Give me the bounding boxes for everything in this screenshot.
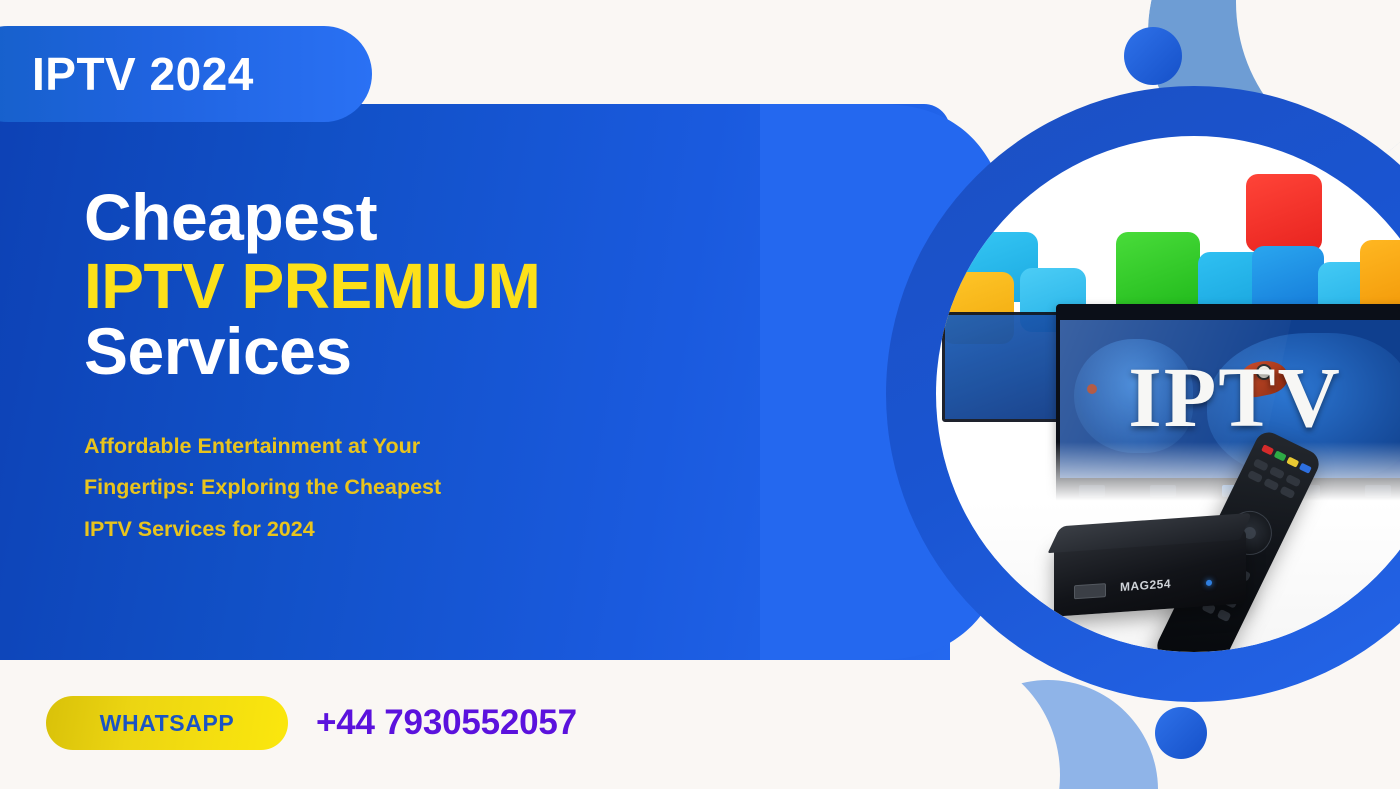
whatsapp-button[interactable]: WHATSAPP	[46, 696, 288, 750]
hero-copy: Cheapest IPTV PREMIUM Services Affordabl…	[84, 186, 704, 550]
contact-cta: WHATSAPP +44 7930552057	[46, 696, 577, 750]
set-top-box-led	[1206, 580, 1212, 586]
headline-line-3: Services	[84, 320, 704, 382]
headline-line-2: IPTV PREMIUM	[84, 256, 704, 316]
hero-subtitle: Affordable Entertainment at Your Fingert…	[84, 426, 644, 550]
whatsapp-button-label: WHATSAPP	[100, 710, 235, 737]
subtitle-line-1: Affordable Entertainment at Your	[84, 426, 644, 467]
product-photo: IPTV	[936, 136, 1400, 652]
badge-label: IPTV 2024	[32, 47, 254, 101]
app-tile-red	[1246, 174, 1322, 252]
tv-logo-text: IPTV	[1060, 347, 1400, 447]
decorative-dot-bottom	[1155, 707, 1207, 759]
set-top-box-usb-port	[1074, 583, 1106, 599]
subtitle-line-2: Fingertips: Exploring the Cheapest	[84, 467, 644, 508]
banner-canvas: IPTV 2024 Cheapest IPTV PREMIUM Services…	[0, 0, 1400, 789]
phone-number[interactable]: +44 7930552057	[316, 703, 577, 743]
product-photo-scene: IPTV	[936, 136, 1400, 652]
iptv-year-badge: IPTV 2024	[0, 26, 372, 122]
decorative-dot-top	[1124, 27, 1182, 85]
subtitle-line-3: IPTV Services for 2024	[84, 509, 644, 550]
product-photo-circle: IPTV	[886, 86, 1400, 702]
set-top-box-model-label: MAG254	[1120, 577, 1171, 595]
set-top-box: MAG254	[1054, 529, 1246, 616]
headline-line-1: Cheapest	[84, 186, 704, 248]
